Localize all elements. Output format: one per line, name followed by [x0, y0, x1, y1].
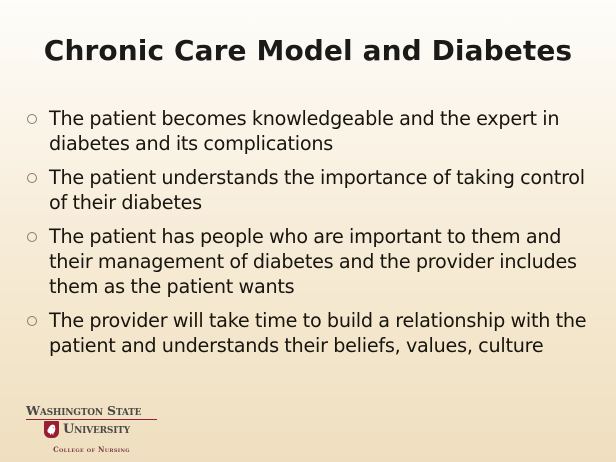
- list-item-text: The patient becomes knowledgeable and th…: [49, 106, 589, 156]
- logo-divider-rule: [26, 419, 157, 420]
- logo-line-university-row: University: [44, 421, 176, 438]
- logo-line-university: University: [63, 422, 130, 437]
- list-item-text: The provider will take time to build a r…: [49, 308, 589, 358]
- wsu-college-of-nursing-logo: Washington State University College of N…: [26, 404, 176, 454]
- list-item: The patient understands the importance o…: [27, 165, 589, 215]
- list-item: The patient becomes knowledgeable and th…: [27, 106, 589, 156]
- wsu-cougar-shield-icon: [44, 421, 59, 438]
- list-item: The provider will take time to build a r…: [27, 308, 589, 358]
- list-item-text: The patient understands the importance o…: [49, 165, 589, 215]
- list-item: The patient has people who are important…: [27, 224, 589, 299]
- hollow-circle-bullet-icon: [27, 224, 49, 242]
- logo-line-college-of-nursing: College of Nursing: [26, 445, 157, 454]
- page-title: Chronic Care Model and Diabetes: [0, 36, 616, 67]
- list-item-text: The patient has people who are important…: [49, 224, 589, 299]
- logo-line-washington-state: Washington State: [26, 404, 176, 418]
- hollow-circle-bullet-icon: [27, 165, 49, 183]
- slide-canvas: Chronic Care Model and Diabetes The pati…: [0, 0, 616, 462]
- hollow-circle-bullet-icon: [27, 106, 49, 124]
- hollow-circle-bullet-icon: [27, 308, 49, 326]
- bullet-list: The patient becomes knowledgeable and th…: [27, 106, 589, 367]
